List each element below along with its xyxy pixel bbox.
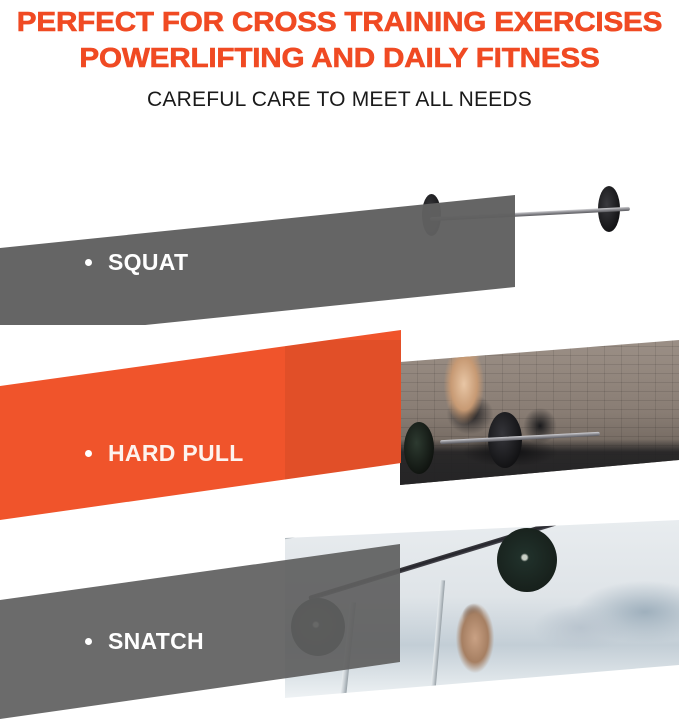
subheadline: CAREFUL CARE TO MEET ALL NEEDS	[0, 74, 679, 112]
panel-snatch: SNATCH	[0, 520, 679, 722]
photo-hard-pull	[400, 340, 679, 500]
bullet-icon	[85, 450, 92, 457]
barbell-plate-left-icon	[404, 422, 434, 474]
panel-label-hard-pull: HARD PULL	[85, 440, 244, 467]
promo-graphic: PERFECT FOR CROSS TRAINING EXERCISES POW…	[0, 0, 679, 722]
headline-line-2: POWERLIFTING AND DAILY FITNESS	[0, 38, 679, 74]
label-band-hard-pull	[0, 330, 401, 520]
panel-label-hard-pull-text: HARD PULL	[108, 440, 244, 466]
panel-label-snatch-text: SNATCH	[108, 628, 204, 654]
header-block: PERFECT FOR CROSS TRAINING EXERCISES POW…	[0, 0, 679, 118]
panel-squat: SQUAT	[0, 140, 679, 340]
bullet-icon	[85, 638, 92, 645]
headline-line-1: PERFECT FOR CROSS TRAINING EXERCISES	[0, 0, 679, 38]
panel-label-squat: SQUAT	[85, 249, 188, 276]
barbell-plate-right-icon	[497, 528, 557, 592]
panel-hard-pull: HARD PULL	[0, 330, 679, 540]
bullet-icon	[85, 259, 92, 266]
panel-label-squat-text: SQUAT	[108, 249, 188, 275]
panel-label-snatch: SNATCH	[85, 628, 204, 655]
gym-frame-post	[430, 580, 445, 698]
band-photo-overlap-shade	[285, 340, 401, 520]
